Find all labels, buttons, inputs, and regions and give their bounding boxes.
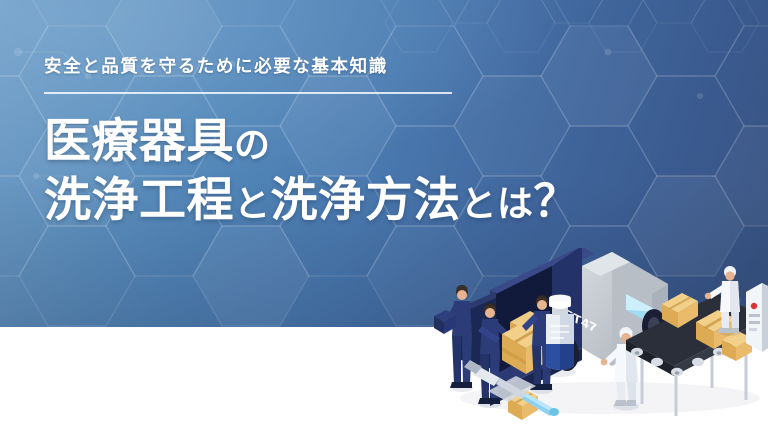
title-line1-particle: の <box>234 124 271 165</box>
hero-banner-canvas: 安全と品質を守るために必要な基本知識 医療器具の 洗浄工程と洗浄方法とは？ <box>0 0 768 424</box>
eyebrow-text: 安全と品質を守るために必要な基本知識 <box>44 56 684 77</box>
title-divider <box>44 92 452 94</box>
title-line2-main1: 洗浄工程 <box>44 173 234 226</box>
control-panel <box>746 283 768 352</box>
isometric-medical-logistics-scene: NET47 <box>430 248 768 424</box>
panel-indicator-light <box>751 303 757 309</box>
worker-with-box-1 <box>434 285 473 392</box>
title-line2-main2: 洗浄方法 <box>271 173 461 226</box>
title-line2-particle2: とは <box>461 183 534 224</box>
page-title-line-2: 洗浄工程と洗浄方法とは？ <box>44 170 684 229</box>
title-line1-main: 医療器具 <box>44 114 234 167</box>
title-question-mark: ？ <box>534 177 579 226</box>
page-title: 医療器具の 洗浄工程と洗浄方法とは？ <box>44 111 684 230</box>
page-title-line-1: 医療器具の <box>44 111 684 170</box>
title-line2-particle1: と <box>234 183 271 224</box>
hero-text-block: 安全と品質を守るために必要な基本知識 医療器具の 洗浄工程と洗浄方法とは？ <box>44 56 684 230</box>
